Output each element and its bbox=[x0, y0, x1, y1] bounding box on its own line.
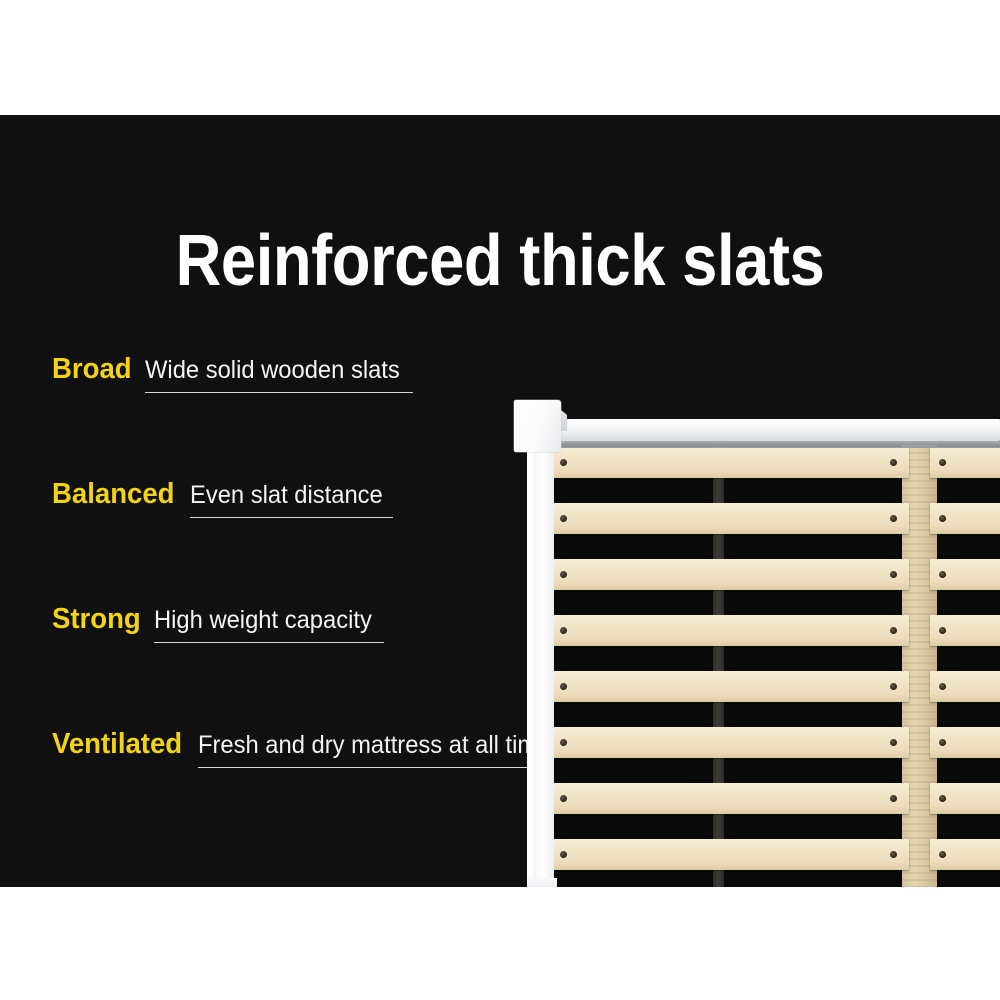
slat-screw bbox=[560, 515, 567, 522]
bed-slat bbox=[554, 503, 909, 534]
bed-slat bbox=[554, 671, 909, 702]
slat-screw bbox=[939, 459, 946, 466]
feature-item-strong: Strong High weight capacity bbox=[52, 605, 572, 730]
feature-description-underline: High weight capacity bbox=[154, 608, 383, 643]
slat-screw bbox=[939, 571, 946, 578]
hero-panel: Reinforced thick slats Broad Wide solid … bbox=[0, 115, 1000, 887]
feature-description-underline: Wide solid wooden slats bbox=[145, 358, 413, 393]
slat-screw bbox=[890, 739, 897, 746]
slat-screw bbox=[560, 683, 567, 690]
feature-item-ventilated: Ventilated Fresh and dry mattress at all… bbox=[52, 730, 572, 855]
feature-description: High weight capacity bbox=[154, 608, 372, 633]
feature-description: Even slat distance bbox=[190, 483, 383, 508]
page-root: Reinforced thick slats Broad Wide solid … bbox=[0, 0, 1000, 1000]
bed-slat bbox=[554, 615, 909, 646]
feature-term: Broad bbox=[52, 355, 132, 384]
slat-screw bbox=[560, 627, 567, 634]
slat-screw bbox=[560, 795, 567, 802]
bed-top-rail-shadow bbox=[535, 441, 1000, 448]
slat-screw bbox=[890, 851, 897, 858]
bed-slat bbox=[554, 783, 909, 814]
slat-screw bbox=[939, 627, 946, 634]
bed-side-post-inner bbox=[533, 448, 554, 887]
slat-screw bbox=[939, 739, 946, 746]
feature-description: Wide solid wooden slats bbox=[145, 358, 400, 383]
feature-item-balanced: Balanced Even slat distance bbox=[52, 480, 572, 605]
product-image-alt: white wooden bed frame with reinforced p… bbox=[505, 285, 506, 286]
bed-slat bbox=[554, 727, 909, 758]
bed-slat bbox=[554, 839, 909, 870]
slat-screw bbox=[939, 515, 946, 522]
slat-screw bbox=[939, 795, 946, 802]
bed-post-cap bbox=[514, 400, 561, 452]
slat-screw bbox=[560, 851, 567, 858]
feature-item-broad: Broad Wide solid wooden slats bbox=[52, 355, 572, 480]
slat-screw bbox=[939, 851, 946, 858]
bed-top-rail bbox=[535, 419, 1000, 441]
product-image-bed-slats: white wooden bed frame with reinforced p… bbox=[505, 285, 1000, 887]
feature-term: Strong bbox=[52, 605, 141, 634]
bed-slat bbox=[554, 447, 909, 478]
slat-screw bbox=[890, 515, 897, 522]
slat-screw bbox=[890, 683, 897, 690]
feature-list: Broad Wide solid wooden slats Balanced E… bbox=[52, 355, 572, 855]
slat-screw bbox=[560, 739, 567, 746]
bed-slat bbox=[554, 559, 909, 590]
slat-screw bbox=[890, 795, 897, 802]
feature-term: Ventilated bbox=[52, 730, 182, 759]
slat-screw bbox=[939, 683, 946, 690]
feature-term: Balanced bbox=[52, 480, 175, 509]
feature-description-underline: Even slat distance bbox=[190, 483, 393, 518]
slat-screw bbox=[560, 459, 567, 466]
slat-screw bbox=[890, 459, 897, 466]
slat-screw bbox=[560, 571, 567, 578]
slat-screw bbox=[890, 571, 897, 578]
slat-screw bbox=[890, 627, 897, 634]
bed-bottom-rail bbox=[527, 878, 557, 887]
